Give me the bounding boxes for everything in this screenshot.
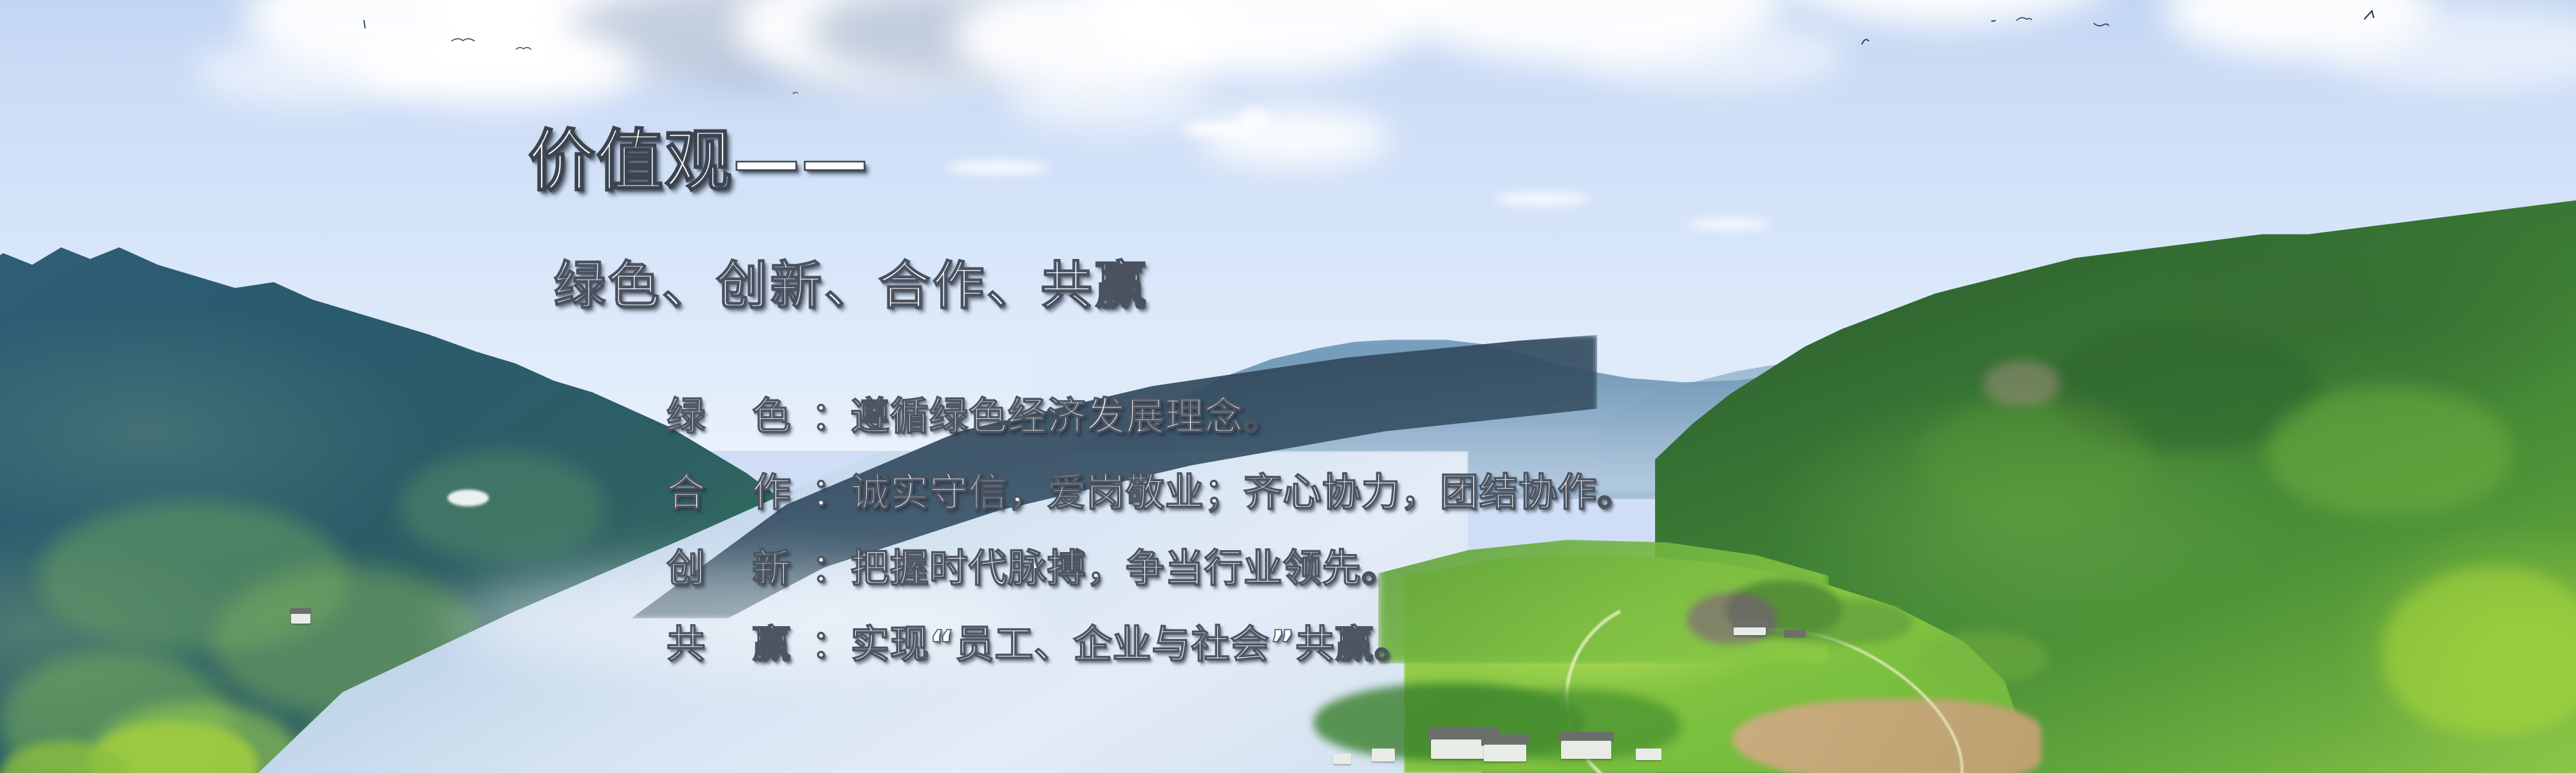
- list-item: 创 新：把握时代脉搏，争当行业领先。: [667, 531, 1636, 607]
- tree-clump: [2267, 386, 2512, 515]
- rock-scar: [1984, 361, 2061, 406]
- value-key: 创 新: [667, 546, 811, 591]
- value-text: 实现“员工、企业与社会”共赢。: [851, 622, 1414, 667]
- cloud-wisp: [1240, 110, 1269, 128]
- value-key: 合 作: [667, 470, 811, 515]
- subtitle: 绿色、创新、合作、共赢: [554, 258, 1149, 314]
- building-roof: [1784, 630, 1806, 638]
- value-key: 绿 色: [667, 394, 811, 439]
- value-key: 共 赢: [667, 622, 811, 667]
- boat: [448, 490, 489, 506]
- house-wall: [1372, 749, 1395, 761]
- cloud-wisp: [1687, 219, 1771, 229]
- house-wall: [1484, 745, 1526, 761]
- value-sep: ：: [811, 546, 851, 591]
- tree-clump: [1919, 399, 2151, 522]
- tree-clump: [2177, 251, 2370, 348]
- tree-clump: [399, 451, 605, 560]
- house-roof: [290, 608, 312, 614]
- tree-clump: [1919, 631, 2048, 683]
- house-wall: [1333, 754, 1351, 764]
- tree-clump: [213, 567, 483, 715]
- cloud-wisp: [1494, 193, 1591, 205]
- slide-canvas: 价值观—— 绿色、创新、合作、共赢 绿 色：遵循绿色经济发展理念。 合 作：诚实…: [0, 0, 2576, 773]
- value-sep: ：: [811, 470, 851, 515]
- page-title: 价值观——: [528, 126, 869, 196]
- value-sep: ：: [811, 394, 851, 439]
- value-text: 把握时代脉搏，争当行业领先。: [851, 546, 1401, 591]
- cloud-wisp: [947, 161, 1050, 174]
- list-item: 共 赢：实现“员工、企业与社会”共赢。: [667, 607, 1636, 683]
- house-wall: [291, 613, 310, 624]
- value-text: 诚实守信，爱岗敬业；齐心协力，团结协作。: [851, 470, 1636, 515]
- values-list: 绿 色：遵循绿色经济发展理念。 合 作：诚实守信，爱岗敬业；齐心协力，团结协作。…: [667, 379, 1636, 683]
- list-item: 绿 色：遵循绿色经济发展理念。: [667, 379, 1636, 455]
- house-wall: [1636, 749, 1662, 760]
- list-item: 合 作：诚实守信，爱岗敬业；齐心协力，团结协作。: [667, 455, 1636, 531]
- house-wall: [1561, 741, 1611, 759]
- building: [1734, 627, 1766, 635]
- value-sep: ：: [811, 622, 851, 667]
- value-text: 遵循绿色经济发展理念。: [851, 394, 1283, 439]
